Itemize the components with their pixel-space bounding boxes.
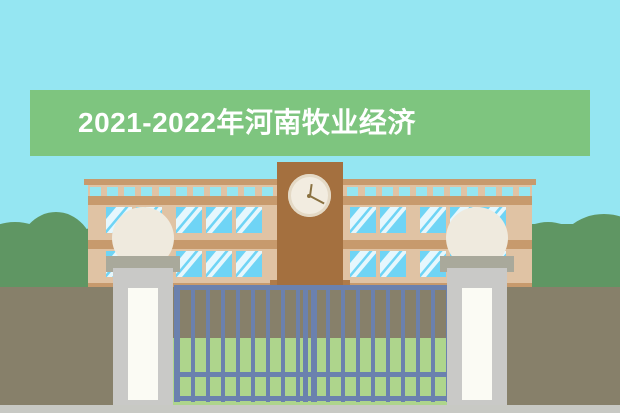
fence-picket (416, 285, 420, 402)
balustrade-gap (176, 187, 187, 196)
balustrade-gap (399, 187, 410, 196)
fence-picket (221, 285, 225, 402)
fence-picket (431, 285, 435, 402)
balustrade-gap (159, 187, 170, 196)
balustrade-gap (467, 187, 478, 196)
fence-picket (401, 285, 405, 402)
fence-picket (281, 285, 285, 402)
fence-picket (236, 285, 240, 402)
balustrade-gap (519, 187, 530, 196)
balustrade-gap (141, 187, 152, 196)
illustration-canvas: 2021-2022年河南牧业经济 (0, 0, 620, 413)
clock-minute-hand (309, 195, 324, 204)
building-window (206, 251, 232, 277)
balustrade-gap (433, 187, 444, 196)
pavement-strip (0, 405, 620, 413)
balustrade-gap (210, 187, 221, 196)
fence-picket (326, 285, 330, 402)
balustrade-gap (262, 187, 273, 196)
gate-post-left (303, 285, 308, 402)
balustrade-gap (382, 187, 393, 196)
balustrade-gap (124, 187, 135, 196)
pillar-panel-left (128, 288, 158, 400)
fence-picket (371, 285, 375, 402)
balustrade-gap (107, 187, 118, 196)
building-window (206, 207, 232, 233)
building-window (380, 207, 406, 233)
fence-end-post-left (174, 285, 180, 402)
fence-picket (296, 285, 300, 402)
balustrade-gap (416, 187, 427, 196)
page-title: 2021-2022年河南牧业经济 (78, 101, 548, 145)
balustrade-gap (347, 187, 358, 196)
fence-rail-bottom (176, 396, 482, 401)
building-window (236, 207, 262, 233)
balustrade-gap (227, 187, 238, 196)
gate-post-right (312, 285, 317, 402)
fence-picket (341, 285, 345, 402)
fence-picket (386, 285, 390, 402)
balustrade-gap (90, 187, 101, 196)
building-window (380, 251, 406, 277)
fence-rail-top (176, 285, 482, 290)
fence-picket (356, 285, 360, 402)
clock-face (288, 174, 331, 217)
fence-rail-mid (176, 372, 482, 377)
fence-picket (251, 285, 255, 402)
building-window (350, 251, 376, 277)
fence-picket (206, 285, 210, 402)
balustrade-gap (365, 187, 376, 196)
fence-picket (191, 285, 195, 402)
balustrade-gap (485, 187, 496, 196)
clock-center-pin (307, 194, 311, 198)
pillar-panel-right (462, 288, 492, 400)
balustrade-gap (193, 187, 204, 196)
balustrade-gap (502, 187, 513, 196)
balustrade-gap (244, 187, 255, 196)
building-window (236, 251, 262, 277)
balustrade-gap (450, 187, 461, 196)
building-window (350, 207, 376, 233)
building-window (420, 207, 446, 233)
building-window (176, 207, 202, 233)
fence-picket (266, 285, 270, 402)
